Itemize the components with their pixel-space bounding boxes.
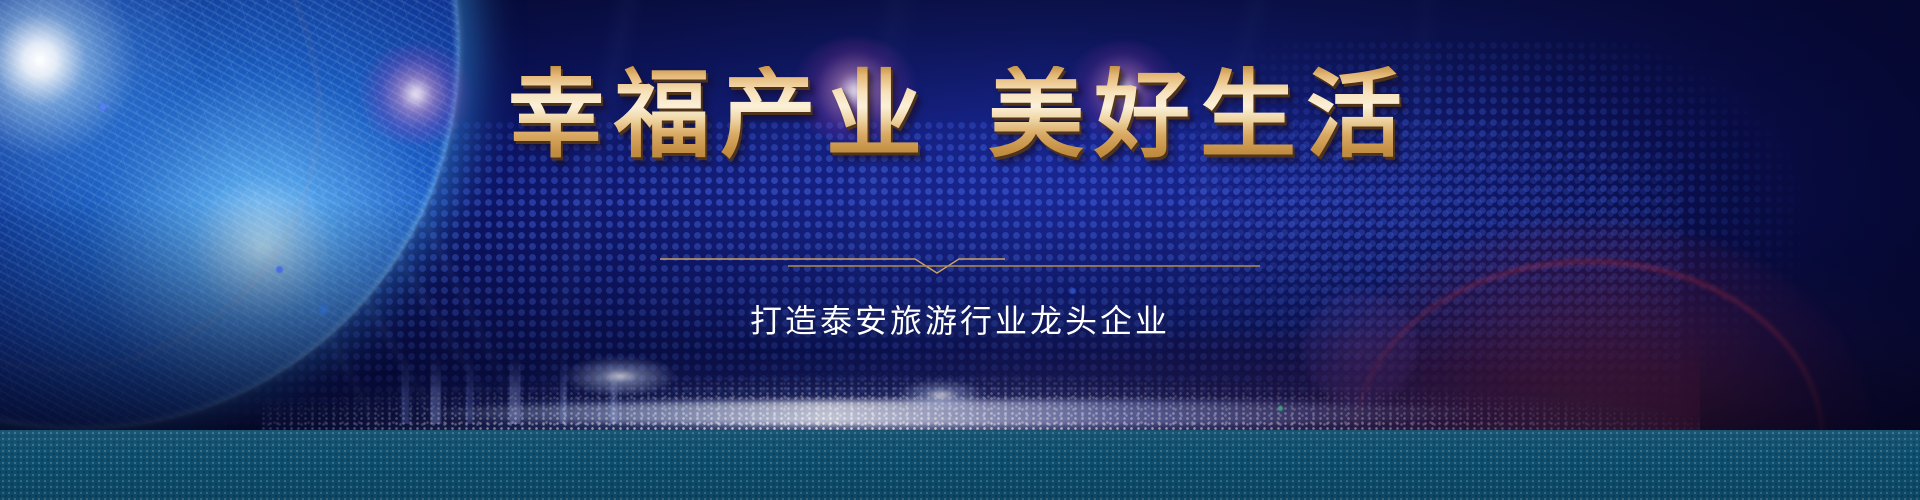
banner-content: 幸福产业 美好生活 打造泰安旅游行业龙头企业 <box>0 0 1920 500</box>
hero-banner: 幸福产业 美好生活 打造泰安旅游行业龙头企业 <box>0 0 1920 500</box>
banner-headline: 幸福产业 美好生活 <box>0 66 1920 167</box>
divider-ornament <box>0 248 1920 278</box>
headline-part-two: 美好生活 <box>932 66 1412 167</box>
bottom-bar-sheen <box>0 430 1920 500</box>
banner-subtitle: 打造泰安旅游行业龙头企业 <box>0 296 1920 342</box>
headline-part-one: 幸福产业 <box>508 66 932 167</box>
divider-chevron-icon <box>660 248 1260 278</box>
bottom-bar <box>0 430 1920 500</box>
